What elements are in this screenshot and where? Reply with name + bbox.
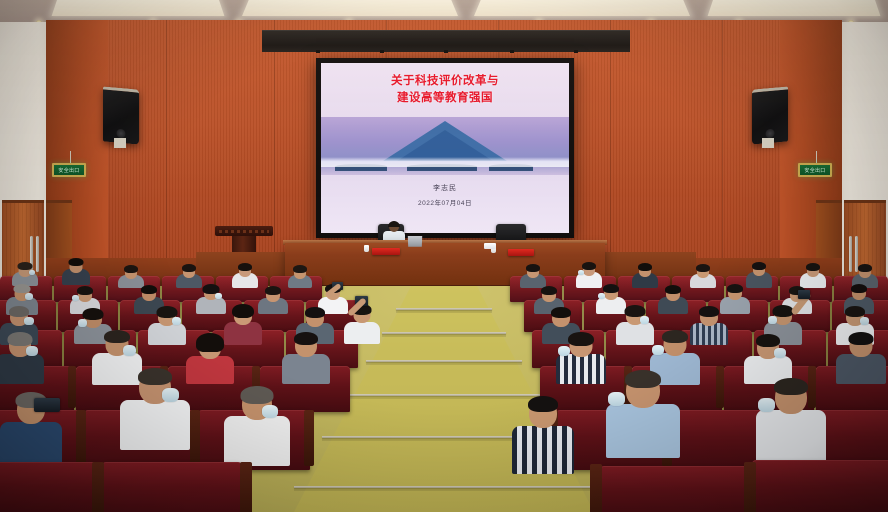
audience-member <box>120 368 190 448</box>
seat <box>0 462 100 512</box>
slide-presenter-name: 李志民 <box>321 183 569 193</box>
slide-mountain-image <box>321 117 569 175</box>
audience-member <box>148 306 186 342</box>
audience-member <box>756 378 826 460</box>
audience-member <box>744 334 792 380</box>
slide-title-line1: 关于科技评价改革与 <box>321 73 569 90</box>
seat <box>752 460 888 512</box>
armrest <box>68 366 76 408</box>
audience-member <box>224 386 290 464</box>
audience-member <box>658 285 688 312</box>
exit-sign-left: 安全出口 <box>52 163 86 177</box>
projection-screen: 关于科技评价改革与 建设高等教育强国 李志民 2022年07月04日 <box>316 58 574 238</box>
armrest <box>240 462 252 512</box>
audience-member <box>556 332 606 380</box>
tablet-device <box>34 398 60 412</box>
slide-title-line2: 建设高等教育强国 <box>321 90 569 107</box>
wall-speaker-left <box>103 86 139 144</box>
audience-member <box>616 305 654 342</box>
armrest <box>76 410 86 466</box>
exit-sign-label: 安全出口 <box>58 167 79 174</box>
ceiling-light-panel <box>52 0 225 16</box>
audience-member <box>746 262 772 286</box>
laptop <box>408 236 422 247</box>
exit-sign-cable <box>70 151 71 163</box>
ceiling-light-panel <box>242 0 458 16</box>
speaker-bracket <box>762 138 774 148</box>
audience-member <box>232 263 258 286</box>
audience-member <box>576 262 602 286</box>
water-cup <box>364 245 369 252</box>
slide-date: 2022年07月04日 <box>321 197 569 207</box>
audience-member <box>690 264 716 286</box>
audience-member <box>118 266 144 286</box>
slide-title: 关于科技评价改革与 建设高等教育强国 <box>321 73 569 107</box>
seat <box>102 462 242 512</box>
armrest <box>744 462 756 512</box>
audience-member <box>282 332 330 380</box>
audience-member <box>288 266 312 286</box>
name-placard <box>508 249 534 256</box>
audience-member <box>258 286 288 312</box>
acoustic-panel <box>262 30 630 52</box>
armrest <box>716 366 724 408</box>
speaker-bracket <box>114 138 126 148</box>
armrest <box>190 410 200 466</box>
auditorium-photo: 关于科技评价改革与 建设高等教育强国 李志民 2022年07月04日 安全出口 … <box>0 0 888 512</box>
audience-member <box>800 263 826 286</box>
audience-member <box>62 258 90 284</box>
audience-member <box>196 284 226 312</box>
exit-sign-cable <box>816 151 817 163</box>
wall-speaker-right <box>752 86 788 144</box>
audience-member <box>836 332 886 380</box>
audience-member <box>632 263 658 286</box>
audience-member <box>176 264 202 286</box>
audience-member <box>12 262 38 284</box>
exit-sign-right: 安全出口 <box>798 163 832 177</box>
audience-member <box>606 370 680 456</box>
name-placard <box>372 248 400 255</box>
armrest <box>304 410 314 466</box>
ceiling-light-panel <box>708 0 881 16</box>
audience-member <box>186 334 234 380</box>
smartphone <box>798 290 810 299</box>
ceiling-light-panel <box>474 0 690 16</box>
seat <box>600 466 750 512</box>
audience-member <box>512 396 574 472</box>
armrest <box>590 464 602 512</box>
audience-member <box>0 332 44 380</box>
audience-member <box>852 265 878 286</box>
audience-member <box>520 264 546 286</box>
tissue-box <box>484 243 496 249</box>
armrest <box>92 462 104 512</box>
exit-sign-label: 安全出口 <box>804 167 825 174</box>
